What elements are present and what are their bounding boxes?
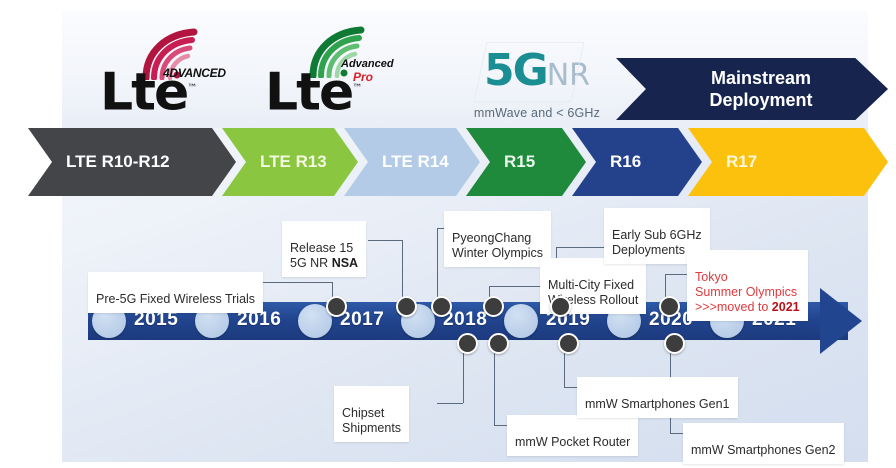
logo-lte-advanced: 4DVANCED Lte™: [100, 28, 250, 120]
release-chevron-label: LTE R14: [382, 152, 449, 172]
5g-nr-subtitle: mmWave and < 6GHz: [452, 106, 622, 120]
callout-tokyo-summer-olympics[interactable]: Tokyo Summer Olympics >>>moved to 2021: [687, 250, 808, 321]
lte-advanced-wordmark: Lte™: [100, 63, 195, 118]
callout-text: mmW Smartphones Gen1: [585, 397, 730, 411]
timeline-arrow-head-icon: [820, 288, 862, 354]
callout-text: PyeongChang Winter Olympics: [452, 231, 543, 260]
roadmap-canvas: 4DVANCED Lte™ Advanced Pro Lte™: [0, 0, 896, 468]
callout-text: Pre-5G Fixed Wireless Trials: [96, 292, 255, 306]
event-marker-2[interactable]: [396, 296, 417, 317]
logo-5g-nr: 5GNR mmWave and < 6GHz: [452, 48, 622, 118]
mainstream-deployment-chevron[interactable]: Mainstream Deployment: [616, 58, 888, 120]
release-chevron-label: R15: [504, 152, 535, 172]
connector-line: [437, 228, 438, 306]
logo-lte-advanced-pro: Advanced Pro Lte™: [265, 28, 415, 120]
release-chevron-lte-r10-r12[interactable]: LTE R10-R12: [28, 128, 236, 196]
event-marker-7[interactable]: [457, 333, 478, 354]
callout-text: mmW Pocket Router: [515, 435, 630, 449]
5g-ghost-shape-icon: [474, 42, 585, 102]
timeline-circle: [504, 304, 538, 338]
callout-text: mmW Smartphones Gen2: [691, 443, 836, 457]
callout-mmw-smartphones-gen1[interactable]: mmW Smartphones Gen1: [577, 377, 738, 418]
event-marker-10[interactable]: [664, 333, 685, 354]
lte-pro-wordmark: Lte™: [265, 63, 360, 118]
event-marker-8[interactable]: [488, 333, 509, 354]
connector-line: [368, 240, 402, 241]
event-marker-1[interactable]: [326, 296, 347, 317]
release-chevron-r17[interactable]: R17: [688, 128, 888, 196]
callout-mmw-smartphones-gen2[interactable]: mmW Smartphones Gen2: [683, 423, 844, 464]
event-marker-6[interactable]: [659, 296, 680, 317]
callout-pyeongchang-winter-olympics[interactable]: PyeongChang Winter Olympics: [444, 211, 551, 267]
callout-chipset-shipments[interactable]: Chipset Shipments: [334, 386, 409, 442]
connector-line: [665, 274, 687, 275]
callout-release-15-5g-nr-nsa[interactable]: Release 15 5G NR NSA: [282, 221, 366, 277]
release-chevron-label: R16: [610, 152, 641, 172]
connector-line: [489, 286, 540, 287]
callout-pre-5g-fixed-wireless-trials[interactable]: Pre-5G Fixed Wireless Trials: [88, 272, 263, 313]
release-chevron-label: LTE R13: [260, 152, 327, 172]
connector-line: [437, 403, 463, 404]
callout-mmw-pocket-router[interactable]: mmW Pocket Router: [507, 415, 638, 456]
mainstream-deployment-label: Mainstream Deployment: [709, 67, 812, 111]
lte-trademark-symbol: ™: [187, 83, 195, 94]
callout-text-bold: NSA: [332, 256, 358, 270]
lte-pro-wordmark-text: Lte: [265, 62, 352, 122]
timeline-year-2017[interactable]: 2017: [340, 309, 384, 331]
connector-line: [556, 247, 604, 248]
release-chevron-label: R17: [726, 152, 757, 172]
event-marker-5[interactable]: [550, 296, 571, 317]
lte-wordmark-text: Lte: [100, 62, 187, 122]
lte-pro-trademark-symbol: ™: [352, 83, 360, 94]
event-marker-3[interactable]: [431, 296, 452, 317]
callout-text-bold: 2021: [772, 300, 800, 314]
event-marker-9[interactable]: [558, 333, 579, 354]
release-chevron-label: LTE R10-R12: [66, 152, 170, 172]
callout-text: Chipset Shipments: [342, 406, 401, 435]
event-marker-4[interactable]: [483, 296, 504, 317]
connector-line: [262, 282, 332, 283]
